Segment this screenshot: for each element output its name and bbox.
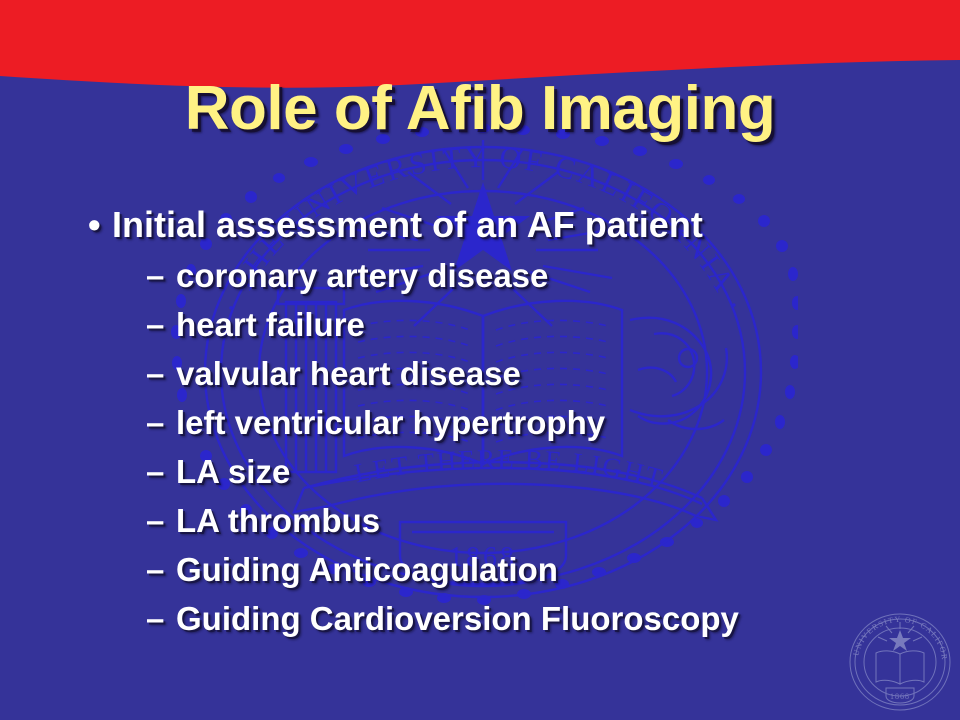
dash-marker-icon: – xyxy=(146,357,176,390)
list-item: – LA size xyxy=(0,455,960,504)
list-item-label: coronary artery disease xyxy=(176,259,548,292)
list-item-label: LA thrombus xyxy=(176,504,380,537)
list-item: – LA thrombus xyxy=(0,504,960,553)
list-item: – Guiding Cardioversion Fluoroscopy xyxy=(0,602,960,651)
list-item-label: Guiding Cardioversion Fluoroscopy xyxy=(176,602,739,635)
list-item: – heart failure xyxy=(0,308,960,357)
list-item-label: left ventricular hypertrophy xyxy=(176,406,605,439)
list-item: – left ventricular hypertrophy xyxy=(0,406,960,455)
list-item: • Initial assessment of an AF patient xyxy=(0,207,960,259)
bullet-list: • Initial assessment of an AF patient – … xyxy=(0,207,960,651)
list-item: – Guiding Anticoagulation xyxy=(0,553,960,602)
list-item-label: heart failure xyxy=(176,308,365,341)
list-item-label: Initial assessment of an AF patient xyxy=(112,207,703,243)
list-item: – valvular heart disease xyxy=(0,357,960,406)
dash-marker-icon: – xyxy=(146,455,176,488)
slide-title: Role of Afib Imaging xyxy=(0,78,960,140)
bullet-dot-icon: • xyxy=(88,207,112,243)
dash-marker-icon: – xyxy=(146,308,176,341)
dash-marker-icon: – xyxy=(146,259,176,292)
slide-canvas: · THE UNIVERSITY OF CALIFORNIA · xyxy=(0,0,960,720)
dash-marker-icon: – xyxy=(146,504,176,537)
dash-marker-icon: – xyxy=(146,553,176,586)
dash-marker-icon: – xyxy=(146,406,176,439)
list-item-label: LA size xyxy=(176,455,290,488)
list-item-label: Guiding Anticoagulation xyxy=(176,553,558,586)
list-item-label: valvular heart disease xyxy=(176,357,521,390)
list-item: – coronary artery disease xyxy=(0,259,960,308)
seal-year-label: 1868 xyxy=(890,692,910,701)
dash-marker-icon: – xyxy=(146,602,176,635)
